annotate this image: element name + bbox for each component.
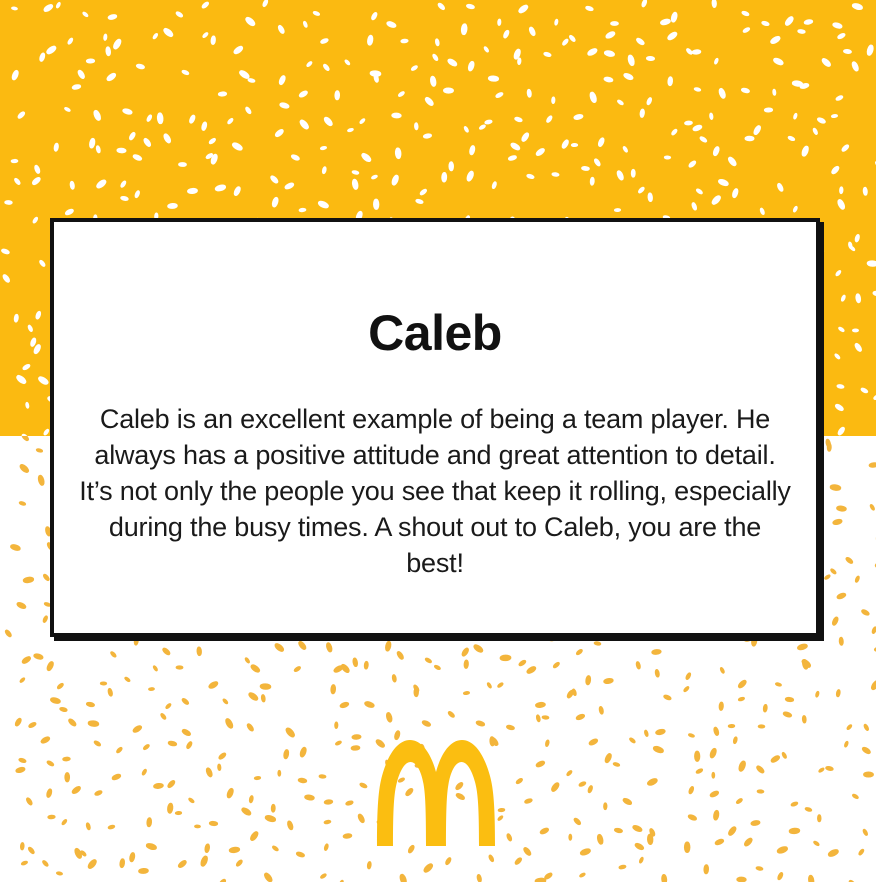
- speck: [736, 797, 745, 805]
- speck: [870, 679, 876, 692]
- speck: [635, 36, 646, 46]
- speck: [322, 62, 331, 71]
- speck: [205, 843, 211, 853]
- speck: [590, 176, 595, 185]
- speck: [554, 19, 559, 26]
- speck: [38, 52, 45, 63]
- speck: [259, 683, 271, 689]
- speck: [509, 141, 521, 151]
- speck: [148, 687, 155, 691]
- speck: [603, 76, 614, 83]
- speck: [160, 712, 168, 720]
- speck: [335, 90, 340, 100]
- speck: [2, 273, 12, 284]
- speck: [627, 54, 635, 67]
- speck: [19, 500, 27, 506]
- speck: [73, 847, 83, 860]
- speck: [535, 702, 546, 709]
- speck: [751, 636, 758, 647]
- speck: [87, 720, 99, 727]
- speck: [603, 678, 614, 685]
- speck: [432, 53, 440, 62]
- speck: [688, 160, 698, 169]
- speck: [873, 290, 876, 296]
- speck: [688, 786, 695, 796]
- speck: [518, 4, 530, 15]
- speck: [369, 70, 381, 77]
- speck: [209, 821, 218, 826]
- speck: [324, 843, 330, 851]
- speck: [392, 113, 402, 119]
- speck: [646, 55, 655, 60]
- speck: [685, 842, 691, 854]
- speck: [384, 640, 391, 652]
- speck: [17, 110, 27, 119]
- speck: [181, 728, 192, 737]
- speck: [728, 724, 736, 728]
- speck: [613, 761, 621, 767]
- speck: [860, 386, 869, 393]
- speck: [466, 3, 476, 10]
- speck: [141, 769, 148, 777]
- speck: [447, 57, 459, 67]
- speck: [235, 858, 244, 867]
- speck: [621, 797, 632, 806]
- speck: [19, 462, 31, 474]
- speck: [129, 852, 136, 863]
- speck: [124, 676, 132, 683]
- speck: [298, 89, 309, 98]
- speck: [871, 626, 876, 635]
- speck: [414, 687, 419, 697]
- speck: [187, 796, 195, 803]
- speck: [862, 828, 869, 837]
- speck: [357, 812, 366, 823]
- speck: [639, 856, 645, 864]
- speck: [80, 850, 88, 858]
- speck: [360, 151, 373, 163]
- speck: [244, 15, 257, 27]
- speck: [247, 690, 259, 701]
- speck: [122, 108, 133, 116]
- speck: [278, 770, 281, 777]
- speck: [244, 106, 252, 115]
- speck: [535, 713, 541, 722]
- speck: [637, 186, 646, 195]
- speck: [586, 675, 592, 686]
- speck: [4, 200, 13, 205]
- speck: [543, 51, 552, 57]
- speck: [836, 505, 847, 512]
- speck: [829, 567, 837, 575]
- speck: [312, 10, 320, 16]
- speck: [836, 425, 846, 436]
- speck: [364, 660, 369, 669]
- speck: [317, 199, 330, 209]
- speck: [831, 114, 838, 118]
- speck: [86, 858, 98, 870]
- speck: [335, 740, 343, 746]
- speck: [593, 157, 602, 167]
- speck: [670, 12, 678, 24]
- speck: [801, 145, 810, 158]
- speck: [70, 181, 76, 190]
- speck: [157, 112, 164, 124]
- speck: [461, 647, 471, 658]
- speck: [683, 685, 691, 693]
- speck: [486, 681, 493, 689]
- speck: [692, 124, 703, 132]
- speck: [120, 196, 129, 202]
- speck: [655, 729, 666, 736]
- speck: [711, 772, 714, 779]
- speck: [597, 833, 605, 845]
- speck: [789, 828, 801, 835]
- speck: [617, 98, 625, 105]
- speck: [869, 462, 876, 468]
- speck: [506, 832, 513, 842]
- speck: [323, 115, 335, 127]
- arches-path: [377, 740, 495, 846]
- speck: [843, 49, 852, 54]
- speck: [589, 91, 598, 104]
- speck: [92, 739, 101, 747]
- speck: [704, 864, 709, 874]
- speck: [581, 166, 590, 171]
- speck: [855, 293, 861, 303]
- speck: [646, 777, 659, 787]
- speck: [833, 352, 841, 360]
- speck: [631, 169, 635, 178]
- speck: [713, 726, 720, 736]
- speck: [518, 57, 522, 65]
- speck: [340, 663, 351, 675]
- speck: [422, 862, 434, 874]
- speck: [836, 32, 846, 40]
- speck: [152, 665, 159, 672]
- speck: [64, 106, 72, 112]
- speck: [391, 174, 400, 187]
- speck: [320, 38, 330, 45]
- speck: [30, 337, 38, 348]
- speck: [654, 669, 660, 678]
- speck: [759, 207, 765, 216]
- speck: [208, 680, 220, 690]
- speck: [107, 13, 118, 20]
- speck: [863, 771, 874, 777]
- speck: [478, 123, 486, 130]
- speck: [629, 736, 637, 744]
- speck: [217, 92, 227, 97]
- speck: [611, 21, 620, 25]
- speck: [70, 785, 81, 795]
- speck: [686, 47, 694, 55]
- speck: [11, 70, 20, 82]
- speck: [737, 760, 746, 773]
- speck: [796, 643, 808, 651]
- speck: [175, 665, 183, 669]
- speck: [823, 574, 831, 581]
- speck: [863, 723, 870, 732]
- speck: [413, 684, 421, 693]
- speck: [374, 198, 380, 209]
- speck: [526, 665, 538, 675]
- speck: [494, 92, 504, 100]
- speck: [240, 806, 252, 817]
- speck: [719, 702, 724, 712]
- speck: [210, 153, 219, 165]
- speck: [217, 877, 227, 882]
- speck: [522, 846, 532, 857]
- speck: [572, 688, 578, 697]
- speck: [423, 133, 433, 139]
- speck: [688, 813, 699, 821]
- speck: [733, 736, 739, 745]
- speck: [295, 851, 305, 858]
- speck: [177, 859, 188, 869]
- speck: [731, 188, 739, 199]
- speck: [351, 170, 359, 175]
- speck: [664, 155, 671, 159]
- speck: [840, 294, 846, 302]
- speck: [319, 774, 327, 778]
- speck: [120, 858, 126, 868]
- speck: [201, 31, 209, 39]
- speck: [744, 136, 754, 141]
- speck: [852, 329, 859, 333]
- speck: [424, 95, 435, 107]
- speck: [835, 95, 844, 102]
- speck: [89, 137, 96, 149]
- speck: [770, 754, 781, 764]
- speck: [618, 865, 627, 871]
- speck: [662, 694, 672, 701]
- speck: [42, 615, 49, 624]
- speck: [226, 117, 234, 125]
- speck: [20, 842, 25, 850]
- speck: [568, 33, 577, 42]
- speck: [801, 657, 813, 668]
- speck: [832, 21, 843, 29]
- speck: [698, 135, 707, 143]
- speck: [47, 815, 55, 820]
- card-body-text: Caleb is an excellent example of being a…: [77, 401, 793, 581]
- speck: [710, 194, 722, 206]
- speck: [430, 76, 437, 88]
- speck: [142, 743, 150, 751]
- speck: [854, 234, 860, 243]
- speck: [825, 438, 832, 448]
- speck: [552, 661, 561, 669]
- speck: [186, 741, 194, 751]
- speck: [632, 823, 644, 832]
- speck: [55, 871, 62, 876]
- speck: [449, 161, 454, 171]
- speck: [825, 765, 834, 771]
- speck: [271, 804, 276, 813]
- speck: [293, 666, 302, 674]
- speck: [205, 767, 214, 779]
- speck: [419, 188, 428, 197]
- speck: [392, 674, 398, 683]
- speck: [411, 64, 419, 71]
- speck: [817, 814, 821, 822]
- speck: [588, 738, 599, 747]
- speck: [335, 721, 339, 728]
- speck: [82, 10, 90, 17]
- speck: [827, 443, 832, 452]
- speck: [649, 827, 657, 837]
- speck: [488, 854, 495, 863]
- speck: [53, 142, 59, 152]
- speck: [359, 118, 366, 125]
- speck: [713, 809, 720, 820]
- speck: [573, 113, 584, 120]
- speck: [544, 872, 554, 881]
- speck: [695, 751, 701, 762]
- speck: [463, 691, 470, 695]
- speck: [386, 712, 394, 724]
- speck: [285, 725, 297, 738]
- speck: [539, 827, 550, 836]
- speck: [469, 145, 476, 156]
- speck: [613, 208, 620, 212]
- speck: [709, 112, 714, 120]
- speck: [836, 592, 847, 600]
- speck: [283, 749, 290, 760]
- speck: [284, 182, 295, 191]
- speck: [20, 655, 31, 665]
- speck: [836, 384, 844, 389]
- speck: [273, 641, 285, 652]
- speck: [111, 773, 122, 781]
- speck: [367, 861, 372, 870]
- speck: [103, 33, 107, 41]
- speck: [832, 519, 843, 527]
- speck: [352, 657, 358, 667]
- speck: [670, 128, 678, 136]
- speck: [652, 744, 665, 753]
- speck: [579, 847, 592, 856]
- speck: [151, 32, 158, 40]
- speck: [756, 789, 764, 793]
- speck: [85, 701, 95, 707]
- speck: [552, 172, 560, 177]
- speck: [286, 820, 294, 831]
- speck: [852, 793, 860, 800]
- speck: [769, 35, 782, 46]
- speck: [815, 691, 820, 699]
- speck: [116, 147, 126, 153]
- speck: [755, 865, 763, 870]
- speck: [835, 269, 843, 277]
- speck: [812, 127, 819, 136]
- speck: [575, 648, 584, 656]
- speck: [844, 740, 850, 748]
- speck: [344, 59, 351, 66]
- speck: [217, 764, 221, 772]
- speck: [400, 39, 408, 44]
- speck: [635, 661, 641, 670]
- speck: [134, 637, 140, 646]
- speck: [56, 682, 65, 690]
- speck: [222, 698, 229, 705]
- speck: [651, 649, 662, 655]
- speck: [35, 310, 42, 320]
- speck: [4, 628, 13, 638]
- speck: [20, 436, 29, 441]
- speck: [108, 688, 114, 698]
- page-title: Caleb: [368, 308, 502, 358]
- speck: [145, 842, 157, 851]
- speck: [736, 877, 746, 882]
- speck: [347, 128, 355, 133]
- speck: [22, 363, 32, 371]
- speck: [792, 79, 804, 86]
- speck: [67, 37, 74, 46]
- speck: [659, 18, 671, 26]
- speck: [437, 2, 446, 11]
- speck: [92, 109, 102, 122]
- speck: [800, 83, 811, 90]
- speck: [164, 703, 172, 711]
- speck: [161, 647, 171, 657]
- speck: [433, 664, 441, 671]
- speck: [587, 47, 599, 57]
- speck: [61, 818, 68, 826]
- speck: [497, 19, 501, 26]
- speck: [684, 671, 691, 680]
- speck: [107, 824, 115, 830]
- speck: [515, 778, 524, 786]
- speck: [836, 689, 841, 698]
- speck: [872, 393, 876, 401]
- speck: [415, 198, 424, 204]
- speck: [773, 88, 777, 95]
- speck: [755, 764, 765, 774]
- speck: [777, 872, 785, 882]
- speck: [447, 710, 456, 719]
- speck: [55, 1, 61, 9]
- speck: [40, 735, 51, 744]
- speck: [10, 159, 18, 163]
- speck: [719, 667, 725, 675]
- speck: [331, 684, 337, 694]
- speck: [132, 153, 143, 162]
- speck: [105, 72, 117, 83]
- speck: [622, 71, 634, 80]
- speck: [345, 800, 354, 806]
- speck: [95, 145, 101, 154]
- speck: [513, 48, 522, 61]
- speck: [373, 74, 379, 84]
- speck: [269, 174, 279, 184]
- speck: [32, 216, 39, 224]
- speck: [71, 84, 81, 91]
- speck: [85, 822, 91, 831]
- speck: [534, 878, 546, 882]
- speck: [201, 121, 208, 131]
- speck: [175, 11, 184, 19]
- speck: [249, 795, 255, 804]
- speck: [546, 115, 554, 124]
- speck: [484, 119, 493, 125]
- speck: [246, 722, 255, 732]
- speck: [95, 178, 108, 190]
- speck: [39, 259, 47, 268]
- speck: [396, 650, 405, 661]
- speck: [740, 87, 750, 94]
